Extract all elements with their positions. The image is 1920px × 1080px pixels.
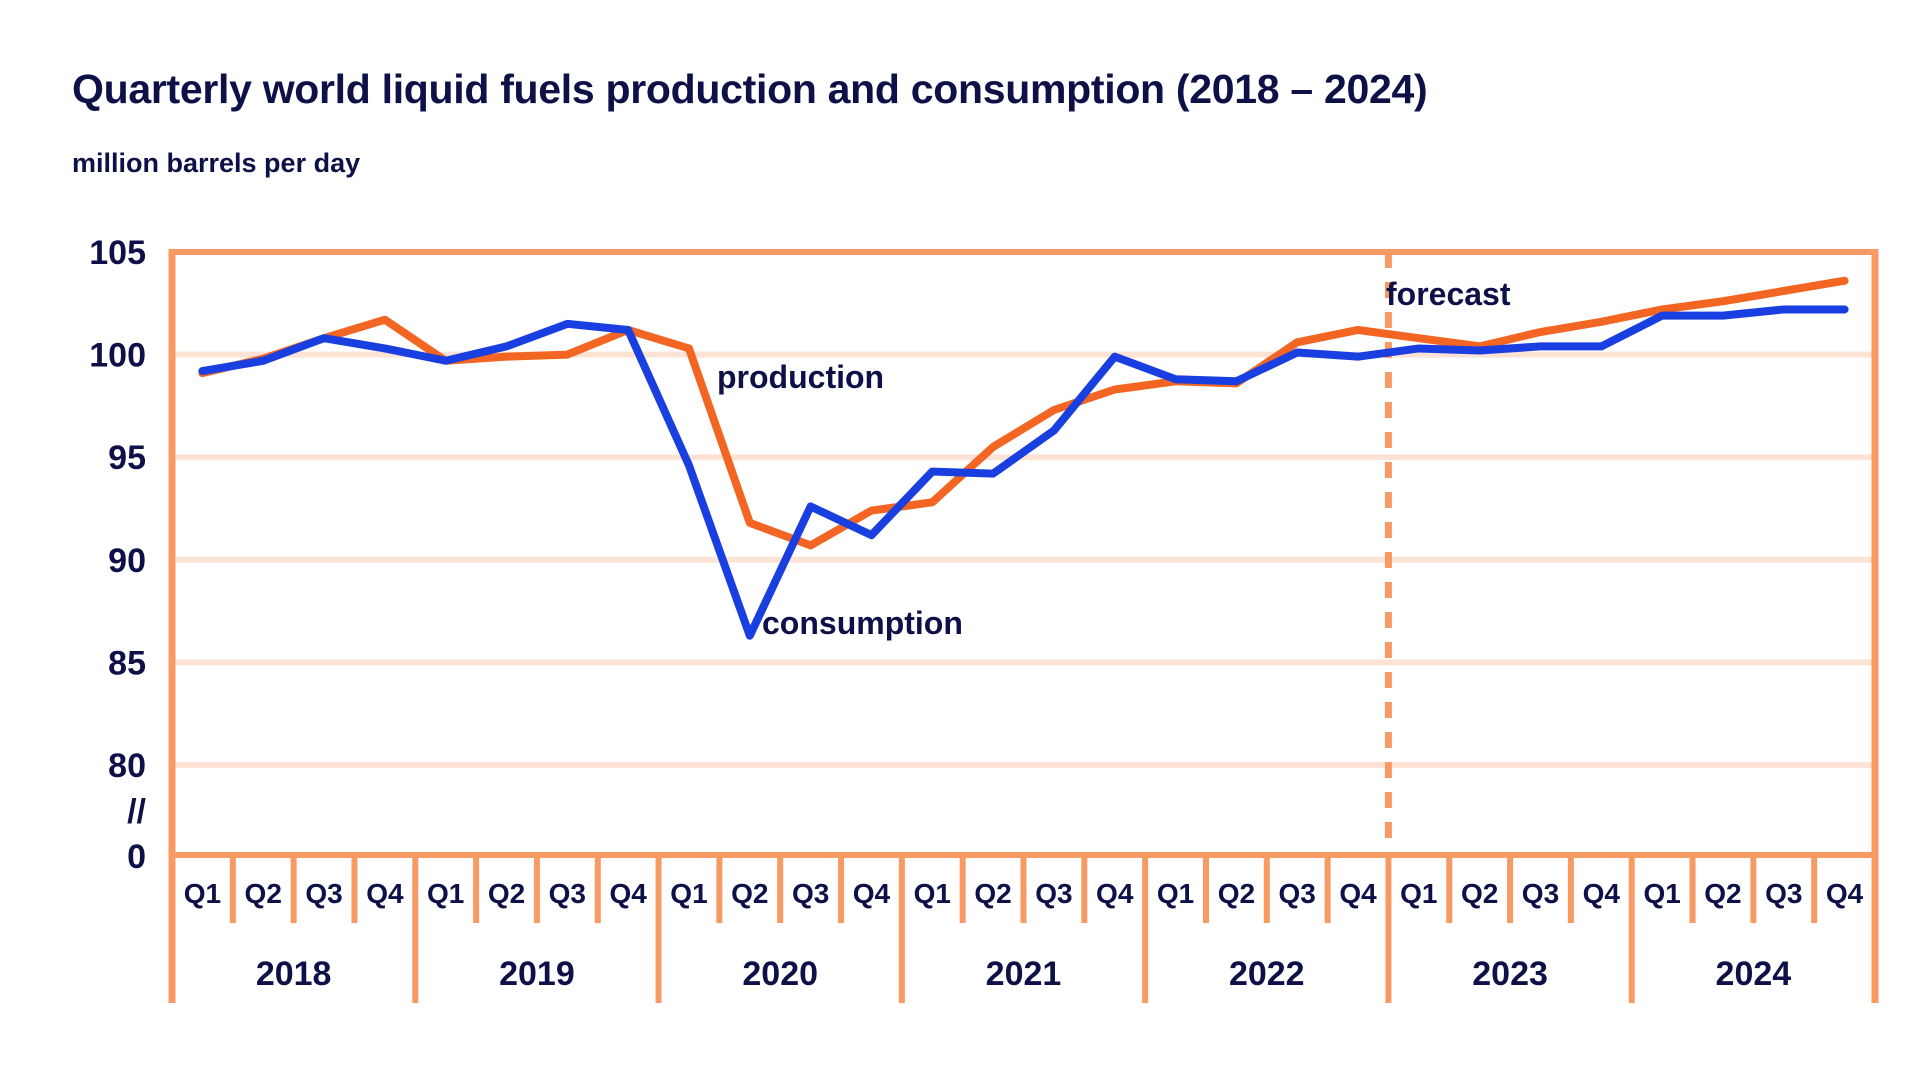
x-tick-label-quarter: Q1 (1400, 878, 1437, 909)
x-tick-label-quarter: Q3 (792, 878, 829, 909)
x-axis-year-label: 2020 (742, 955, 818, 993)
line-chart: 10510095908580//0Q1Q2Q3Q4Q1Q2Q3Q4Q1Q2Q3Q… (0, 0, 1920, 1080)
y-tick-label: 90 (108, 542, 146, 580)
x-tick-label-quarter: Q4 (366, 878, 404, 909)
y-axis-labels: 10510095908580//0 (89, 234, 146, 876)
gridlines (172, 355, 1875, 765)
y-tick-label: 95 (108, 439, 146, 477)
x-tick-label-quarter: Q4 (1096, 878, 1134, 909)
x-tick-label-quarter: Q3 (1035, 878, 1072, 909)
x-tick-label-quarter: Q3 (1522, 878, 1559, 909)
y-tick-label: 105 (89, 234, 146, 272)
production-series-label: production (717, 359, 884, 395)
chart-page: Quarterly world liquid fuels production … (0, 0, 1920, 1080)
consumption-series-label: consumption (762, 605, 963, 641)
x-tick-label-quarter: Q4 (1583, 878, 1621, 909)
y-tick-label-zero: 0 (127, 838, 146, 876)
x-tick-label-quarter: Q4 (1826, 878, 1864, 909)
x-axis-year-label: 2022 (1229, 955, 1305, 993)
x-tick-label-quarter: Q2 (1218, 878, 1255, 909)
x-tick-label-quarter: Q4 (609, 878, 647, 909)
x-tick-label-quarter: Q1 (1157, 878, 1194, 909)
y-tick-label: 100 (89, 337, 146, 375)
x-tick-label-quarter: Q2 (245, 878, 282, 909)
x-tick-label-quarter: Q2 (731, 878, 768, 909)
y-tick-label: 85 (108, 644, 146, 682)
x-tick-label-quarter: Q1 (670, 878, 707, 909)
x-tick-label-quarter: Q1 (184, 878, 221, 909)
chart-plot-area: 10510095908580//0Q1Q2Q3Q4Q1Q2Q3Q4Q1Q2Q3Q… (0, 0, 1920, 1080)
x-tick-label-quarter: Q4 (853, 878, 891, 909)
x-axis-year-label: 2019 (499, 955, 575, 993)
series-line-production (202, 281, 1844, 546)
x-tick-label-quarter: Q2 (1704, 878, 1741, 909)
x-tick-label-quarter: Q1 (1643, 878, 1680, 909)
x-axis-year-label: 2024 (1716, 955, 1792, 993)
series-line-consumption (202, 309, 1844, 635)
x-tick-label-quarter: Q1 (914, 878, 951, 909)
x-tick-label-quarter: Q4 (1339, 878, 1377, 909)
y-axis-break-marker: // (127, 793, 146, 831)
y-tick-label: 80 (108, 747, 146, 785)
x-tick-label-quarter: Q1 (427, 878, 464, 909)
x-tick-label-quarter: Q3 (305, 878, 342, 909)
x-tick-label-quarter: Q3 (1765, 878, 1802, 909)
x-axis-year-label: 2023 (1472, 955, 1548, 993)
x-axis: Q1Q2Q3Q4Q1Q2Q3Q4Q1Q2Q3Q4Q1Q2Q3Q4Q1Q2Q3Q4… (172, 855, 1875, 1003)
x-tick-label-quarter: Q2 (488, 878, 525, 909)
x-axis-year-label: 2018 (256, 955, 332, 993)
x-axis-year-label: 2021 (986, 955, 1062, 993)
x-tick-label-quarter: Q3 (1279, 878, 1316, 909)
forecast-label: forecast (1386, 276, 1511, 312)
x-tick-label-quarter: Q2 (974, 878, 1011, 909)
x-tick-label-quarter: Q2 (1461, 878, 1498, 909)
x-tick-label-quarter: Q3 (549, 878, 586, 909)
